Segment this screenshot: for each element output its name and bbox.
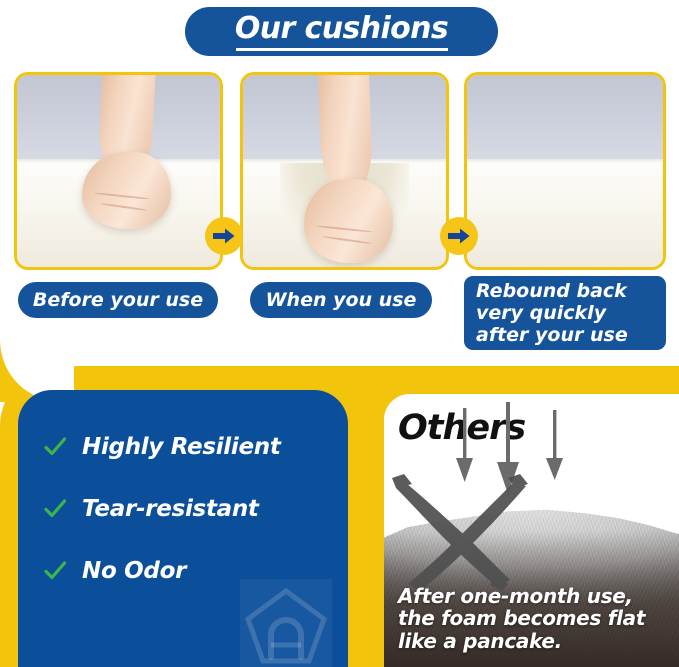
others-comparison-card: Others xyxy=(384,394,679,667)
others-caption-line-1: After one-month use, xyxy=(398,585,669,608)
foam-top-edge xyxy=(467,159,663,164)
foam-scene-after xyxy=(467,75,663,267)
step-caption-after-line-2: very quickly xyxy=(476,302,606,324)
title-underline xyxy=(236,48,448,51)
knuckle-line xyxy=(316,225,373,233)
feature-item-highly-resilient: Highly Resilient xyxy=(44,434,338,460)
check-icon xyxy=(44,498,66,520)
features-panel: Highly Resilient Tear-resistant No Odor xyxy=(18,390,348,667)
page-title: Our cushions xyxy=(235,14,448,44)
feature-label: Highly Resilient xyxy=(82,434,281,460)
step-photo-during xyxy=(240,72,449,270)
step-caption-before: Before your use xyxy=(18,282,218,318)
arrow-right-icon xyxy=(205,217,243,255)
step-photo-before xyxy=(14,72,223,270)
step-caption-after: Rebound back very quickly after your use xyxy=(464,276,666,350)
foam-scene-before xyxy=(17,75,220,267)
product-infographic: Our cushions xyxy=(0,0,679,667)
brush-x-icon xyxy=(390,472,540,596)
arrow-right-icon xyxy=(440,217,478,255)
house-pentagon-logo-icon xyxy=(240,579,332,667)
others-caption-line-3: like a pancake. xyxy=(398,630,669,653)
step-caption-after-line-1: Rebound back xyxy=(476,280,627,302)
feature-label: Tear-resistant xyxy=(82,496,259,522)
step-photo-row xyxy=(0,72,679,270)
feature-label: No Odor xyxy=(82,558,186,584)
step-caption-after-line-3: after your use xyxy=(476,324,628,346)
check-icon xyxy=(44,436,66,458)
foam-scene-during xyxy=(243,75,446,267)
step-caption-during: When you use xyxy=(250,282,432,318)
step-photo-after xyxy=(464,72,666,270)
page-title-pill: Our cushions xyxy=(185,7,498,56)
knuckle-line xyxy=(322,236,372,245)
fist-shape xyxy=(82,152,171,229)
knuckle-line xyxy=(95,192,150,200)
others-caption: After one-month use, the foam becomes fl… xyxy=(398,585,669,653)
feature-item-no-odor: No Odor xyxy=(44,558,338,584)
check-icon xyxy=(44,560,66,582)
feature-item-tear-resistant: Tear-resistant xyxy=(44,496,338,522)
background-wall xyxy=(467,75,663,163)
knuckle-line xyxy=(100,202,148,211)
feature-list: Highly Resilient Tear-resistant No Odor xyxy=(44,434,338,584)
foam-block xyxy=(467,159,663,267)
others-caption-line-2: the foam becomes flat xyxy=(398,607,669,630)
fist-shape xyxy=(304,179,393,263)
